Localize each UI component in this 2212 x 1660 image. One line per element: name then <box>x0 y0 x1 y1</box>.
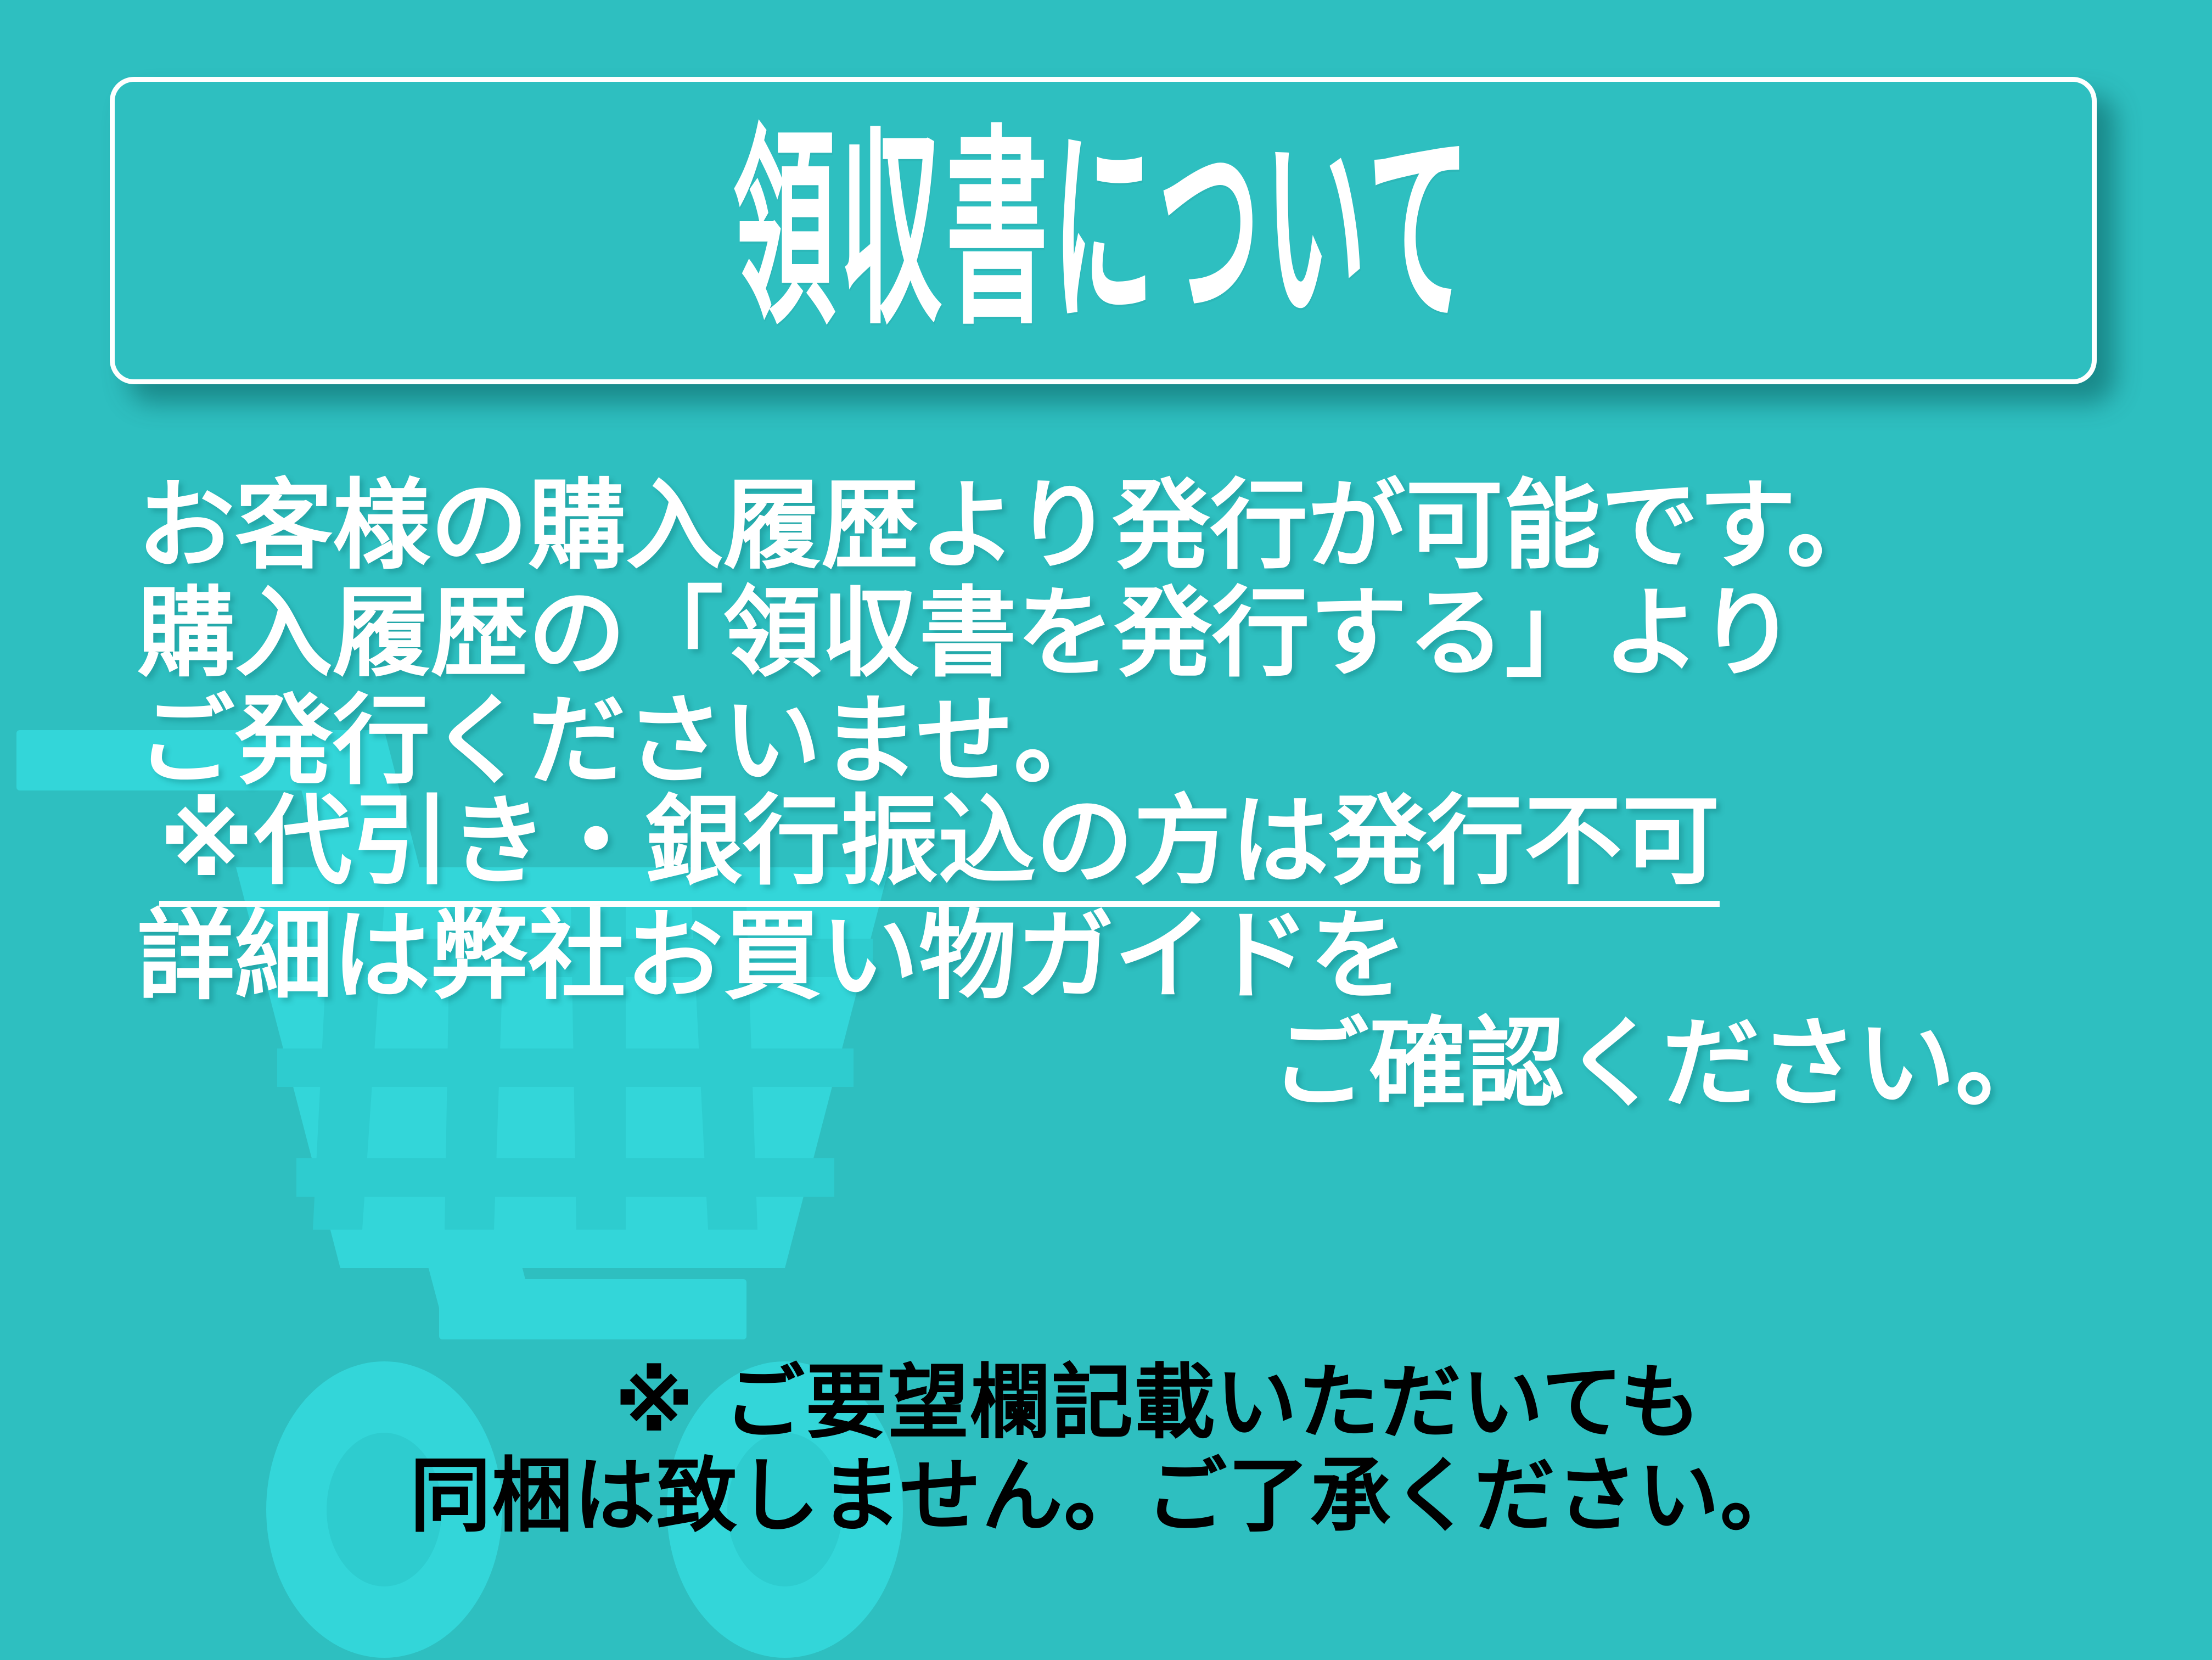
body-line-highlight: ※代引き・銀行振込の方は発行不可 <box>0 795 2212 902</box>
banner-canvas: 領収書について お客様の購入履歴より発行が可能です。 購入履歴の「領収書を発行す… <box>0 0 2212 1660</box>
footnote-line: 同梱は致しません。ご了承ください。 <box>0 1449 2212 1543</box>
footnote-block: ※ ご要望欄記載いただいても 同梱は致しません。ご了承ください。 <box>0 1356 2212 1543</box>
body-line: ご発行くださいませ。 <box>0 687 2212 795</box>
body-line-text: お客様の購入履歴より発行が可能です。 <box>137 477 1884 575</box>
body-line-text: ※代引き・銀行振込の方は発行不可 <box>159 790 1720 907</box>
body-line: ご確認ください。 <box>0 1010 2212 1118</box>
body-line: 購入履歴の「領収書を発行する」より <box>0 580 2212 687</box>
title-plate: 領収書について <box>110 77 2097 384</box>
footnote-line-text: ※ ご要望欄記載いただいても <box>615 1362 1702 1443</box>
body-line-text: ご確認ください。 <box>1271 1015 2053 1113</box>
footnote-line: ※ ご要望欄記載いただいても <box>0 1356 2212 1449</box>
body-line: お客様の購入履歴より発行が可能です。 <box>0 472 2212 580</box>
body-line: 詳細は弊社お買い物ガイドを <box>0 902 2212 1010</box>
body-line-text: 購入履歴の「領収書を発行する」より <box>137 585 1796 682</box>
body-copy: お客様の購入履歴より発行が可能です。 購入履歴の「領収書を発行する」より ご発行… <box>0 472 2212 1118</box>
body-line-text: 詳細は弊社お買い物ガイドを <box>137 907 1407 1005</box>
page-title: 領収書について <box>733 125 1474 336</box>
body-line-text: ご発行くださいませ。 <box>137 692 1111 790</box>
footnote-line-text: 同梱は致しません。ご了承ください。 <box>410 1455 1803 1536</box>
